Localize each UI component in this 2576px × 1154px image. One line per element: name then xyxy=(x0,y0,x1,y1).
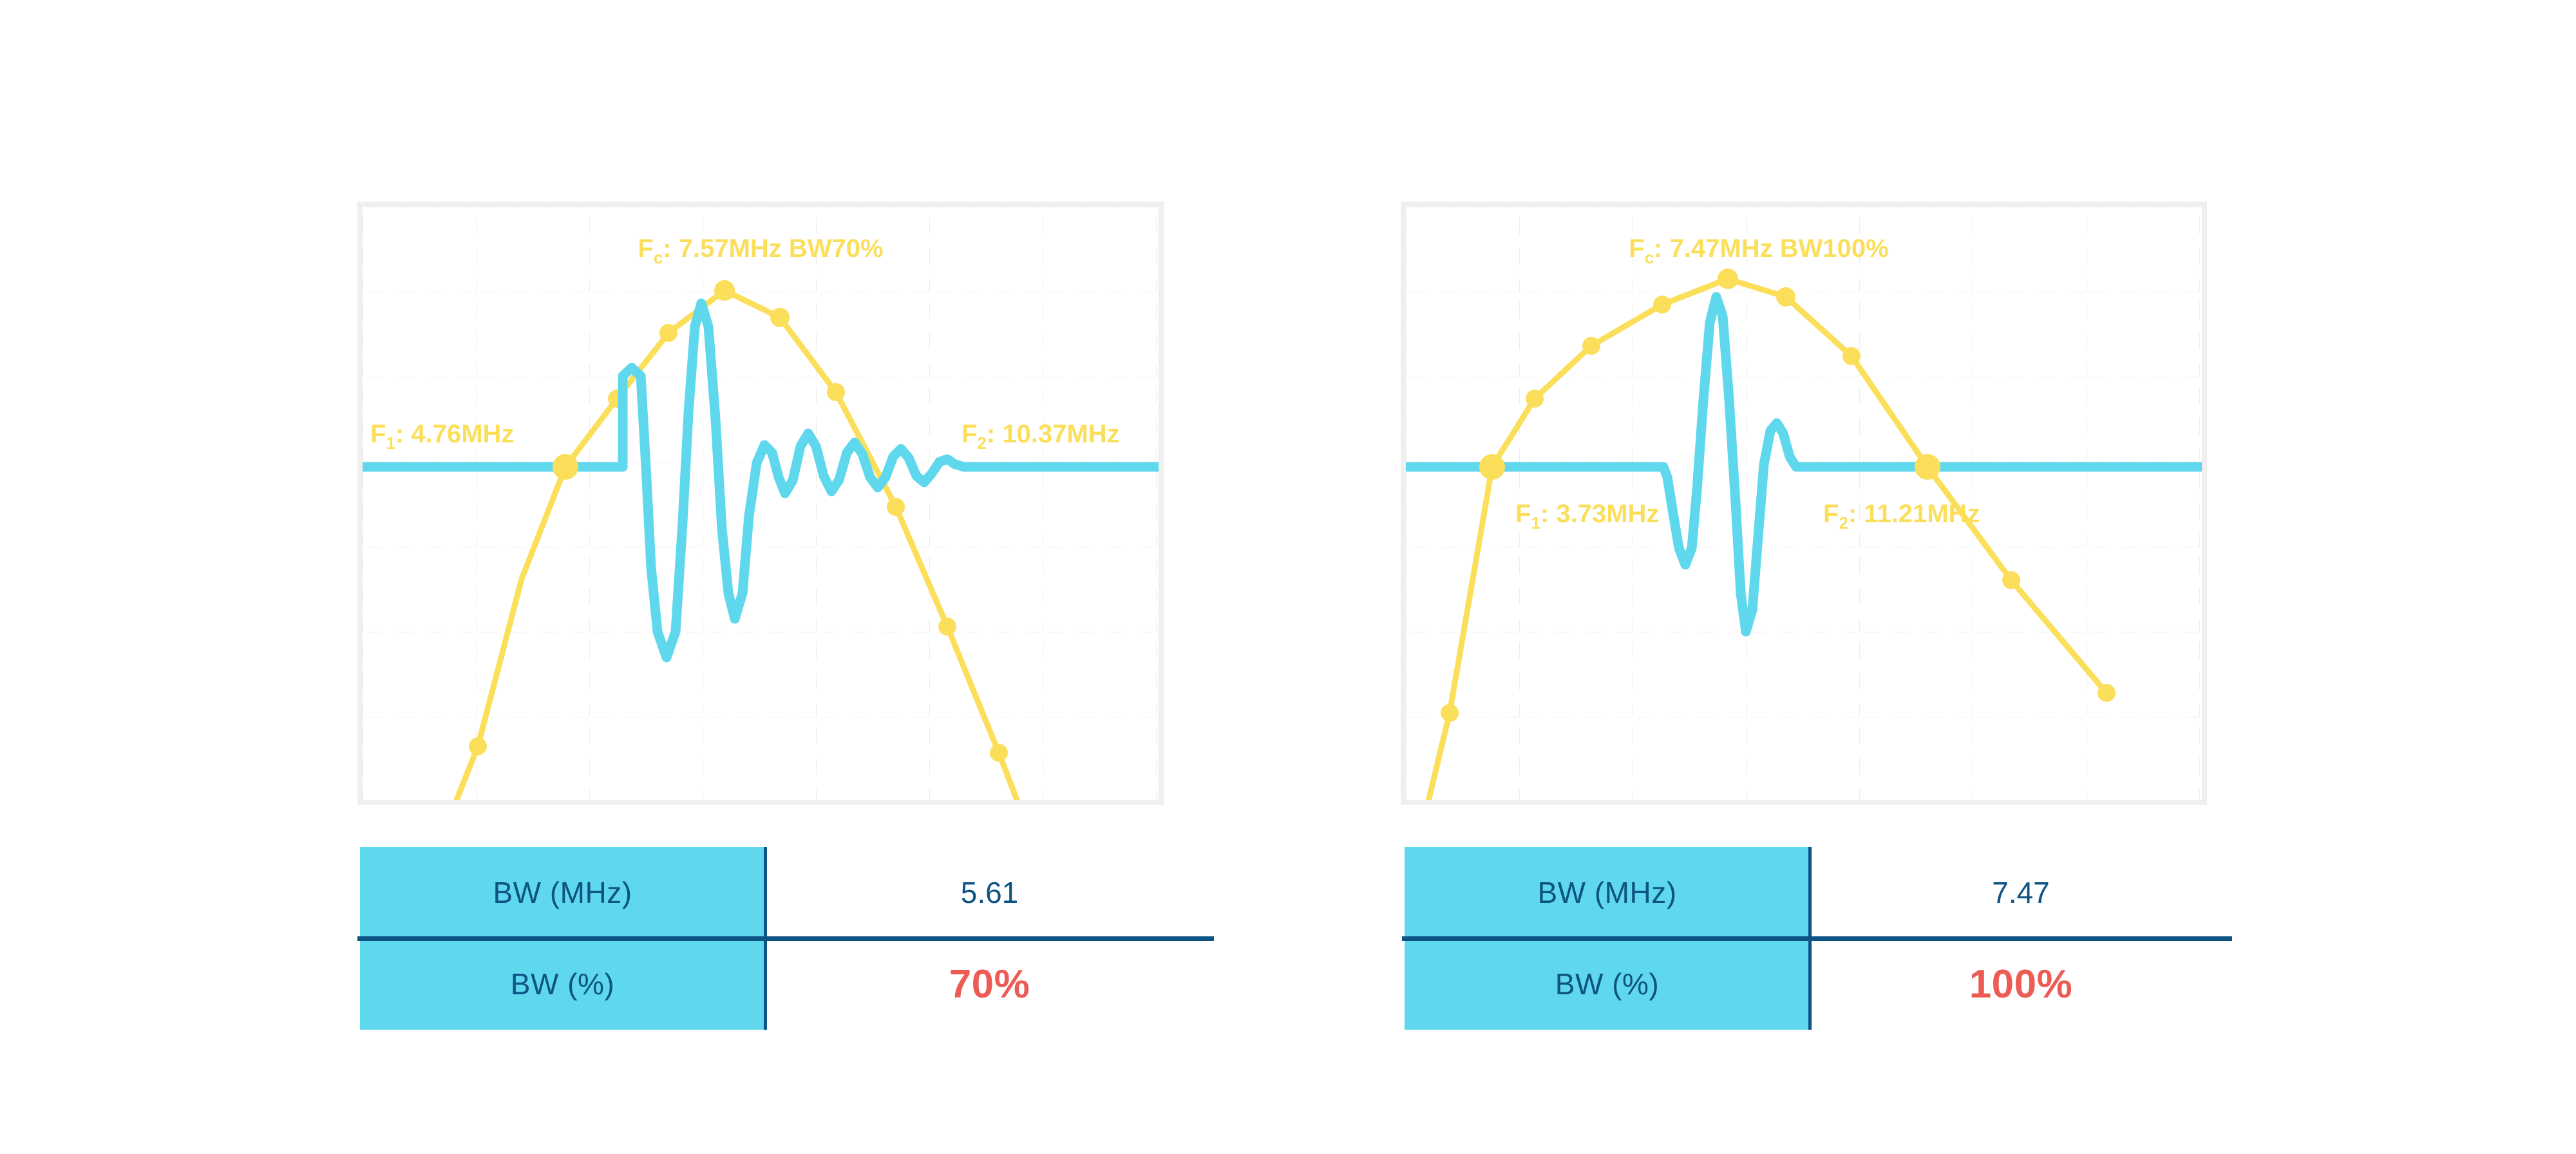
table-row: BW (%) 100% xyxy=(1405,938,2232,1030)
table-row: BW (MHz) 7.47 xyxy=(1405,847,2232,938)
bw-pct-value-cell: 100% xyxy=(1810,938,2232,1030)
chart-frame-right: Fc: 7.47MHz BW100% F1: 3.73MHz F2: 11.21… xyxy=(1401,202,2207,805)
table-row-divider-right xyxy=(1402,936,2232,941)
bw-mhz-value-cell: 7.47 xyxy=(1810,847,2232,938)
annotation-fc-right: Fc: 7.47MHz BW100% xyxy=(1629,234,1888,267)
screenshot-canvas: Fc: 7.57MHz BW70% F1: 4.76MHz F2: 10.37M… xyxy=(0,0,2576,1154)
spectrum-chart-right: Fc: 7.47MHz BW100% F1: 3.73MHz F2: 11.21… xyxy=(1406,207,2202,800)
bw-table-right: BW (MHz) 7.47 BW (%) 100% xyxy=(1405,847,2232,1030)
bw-mhz-label-cell: BW (MHz) xyxy=(1405,847,1810,938)
bw-pct-label-cell: BW (%) xyxy=(1405,938,1810,1030)
measurement-panel-right: Fc: 7.47MHz BW100% F1: 3.73MHz F2: 11.21… xyxy=(0,0,2576,1154)
